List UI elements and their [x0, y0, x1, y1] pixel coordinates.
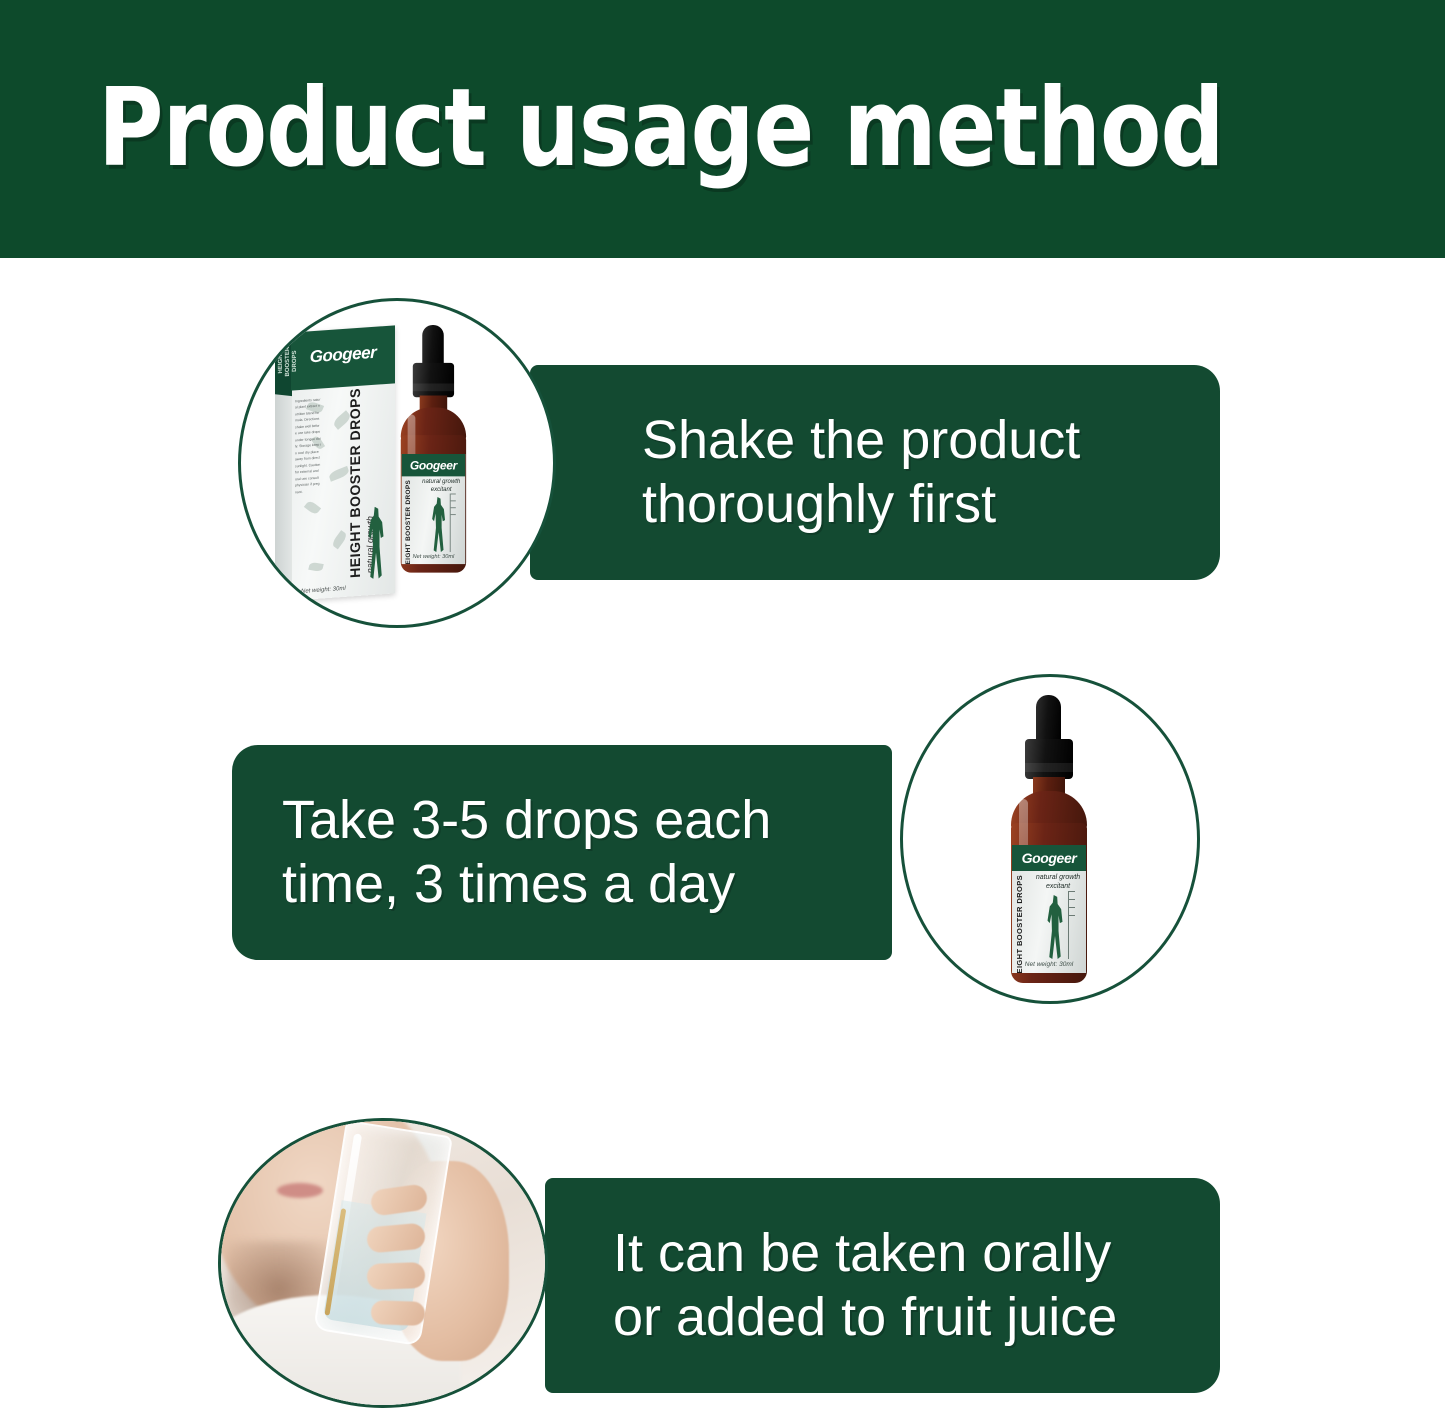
leaf-decor-icon	[331, 530, 349, 549]
product-box-scene: Googeer HEIGHT BOOSTER DROPS Ingredients…	[241, 301, 553, 625]
walking-man-silhouette-icon	[429, 497, 448, 552]
usage-step-row-1: Shake the product thoroughly first Googe…	[0, 288, 1445, 658]
dropper-bulb	[422, 325, 444, 366]
step-2-caption-panel: Take 3-5 drops each time, 3 times a day	[232, 745, 892, 960]
person-lips	[277, 1183, 323, 1198]
person-drinking-water-photo	[221, 1121, 545, 1405]
person-finger	[367, 1262, 426, 1290]
bottle-label-brand-band: Googeer	[402, 454, 466, 476]
step-1-caption-panel: Shake the product thoroughly first	[530, 365, 1220, 580]
step-3-image-circle	[218, 1118, 548, 1408]
bottle-label: Googeer natural growth excitant HEIGHT B…	[1012, 845, 1086, 973]
height-ruler-icon	[450, 494, 459, 552]
dropper-collar-cap	[1025, 739, 1073, 779]
usage-step-row-3: It can be taken orally or added to fruit…	[0, 1056, 1445, 1409]
bottle-brand-text: Googeer	[1022, 850, 1077, 866]
dropper-bottle-scene: Googeer natural growth excitant HEIGHT B…	[903, 677, 1197, 1001]
height-ruler-icon	[1068, 891, 1079, 959]
step-2-image-circle: Googeer natural growth excitant HEIGHT B…	[900, 674, 1200, 1004]
step-3-caption-panel: It can be taken orally or added to fruit…	[545, 1178, 1220, 1393]
dropper-collar-cap	[413, 363, 454, 397]
bottle-product-name-text: HEIGHT BOOSTER DROPS	[404, 480, 412, 564]
bottle-brand-text: Googeer	[410, 458, 457, 472]
bottle-label-brand-band: Googeer	[1012, 845, 1086, 871]
bottle-subtitle-text: natural growth excitant	[1032, 874, 1084, 892]
bottle-net-weight-text: Net weight: 30ml	[402, 554, 466, 560]
product-box-product-name: HEIGHT BOOSTER DROPS	[347, 388, 363, 579]
dropper-bulb	[1036, 695, 1061, 743]
bottle-net-weight-text: Net weight: 30ml	[1012, 961, 1086, 968]
step-2-caption-text: Take 3-5 drops each time, 3 times a day	[282, 789, 771, 916]
product-box-back-copy: Ingredients natural plant extract nutrit…	[295, 397, 321, 496]
bottle-product-name-text: HEIGHT BOOSTER DROPS	[1015, 875, 1024, 973]
step-1-image-circle: Googeer HEIGHT BOOSTER DROPS Ingredients…	[238, 298, 556, 628]
product-box-net-weight: Net weight: 30ml	[301, 586, 346, 595]
leaf-decor-icon	[304, 500, 321, 516]
walking-man-silhouette-icon	[1044, 895, 1066, 959]
person-finger	[371, 1300, 426, 1326]
page-header: Product usage method	[0, 0, 1445, 258]
step-3-caption-text: It can be taken orally or added to fruit…	[613, 1222, 1117, 1349]
bottle-label: Googeer natural growth excitant HEIGHT B…	[402, 454, 466, 564]
leaf-decor-icon	[308, 562, 324, 572]
step-3-image-inner	[221, 1121, 545, 1405]
step-1-image-inner: Googeer HEIGHT BOOSTER DROPS Ingredients…	[241, 301, 553, 625]
page-title: Product usage method	[98, 75, 1224, 183]
usage-step-row-2: Take 3-5 drops each time, 3 times a day …	[0, 672, 1445, 1042]
bottle-subtitle-text: natural growth excitant	[419, 479, 464, 494]
product-box: Googeer HEIGHT BOOSTER DROPS Ingredients…	[291, 325, 395, 600]
product-box-side-brand: HEIGHT BOOSTER DROPS	[278, 341, 300, 383]
step-2-image-inner: Googeer natural growth excitant HEIGHT B…	[903, 677, 1197, 1001]
step-1-caption-text: Shake the product thoroughly first	[642, 409, 1080, 536]
